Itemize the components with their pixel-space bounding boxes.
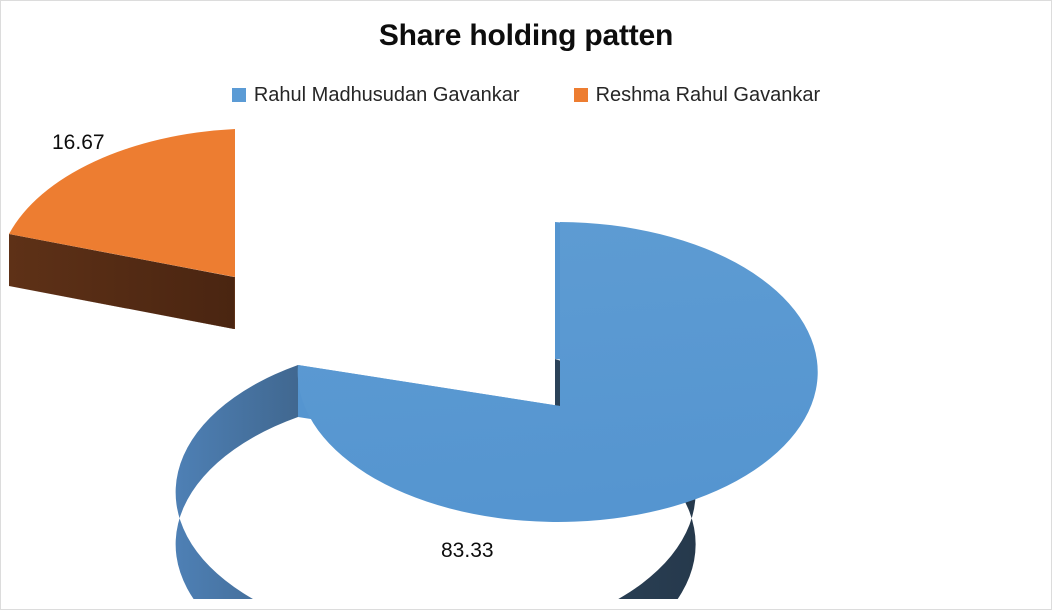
chart-legend: Rahul Madhusudan Gavankar Reshma Rahul G… xyxy=(1,85,1051,105)
pie-slice-orange-side-wall-right xyxy=(234,277,235,329)
legend-label-series-2: Reshma Rahul Gavankar xyxy=(596,85,821,105)
data-label-blue: 83.33 xyxy=(441,539,494,562)
pie-slice-reshma-rahul-gavankar[interactable] xyxy=(9,129,235,329)
data-label-orange: 16.67 xyxy=(52,131,105,154)
chart-title: Share holding patten xyxy=(1,19,1051,53)
pie-chart-svg: 16.67 83.33 xyxy=(1,119,1051,599)
pie-plot-area: 16.67 83.33 xyxy=(1,119,1051,599)
chart-container: Share holding patten Rahul Madhusudan Ga… xyxy=(0,0,1052,610)
legend-swatch-icon-series-2 xyxy=(574,88,588,102)
legend-swatch-icon-series-1 xyxy=(232,88,246,102)
legend-item-rahul-madhusudan-gavankar[interactable]: Rahul Madhusudan Gavankar xyxy=(232,85,520,105)
pie-slice-rahul-madhusudan-gavankar[interactable] xyxy=(176,222,818,599)
legend-item-reshma-rahul-gavankar[interactable]: Reshma Rahul Gavankar xyxy=(574,85,821,105)
legend-label-series-1: Rahul Madhusudan Gavankar xyxy=(254,85,520,105)
